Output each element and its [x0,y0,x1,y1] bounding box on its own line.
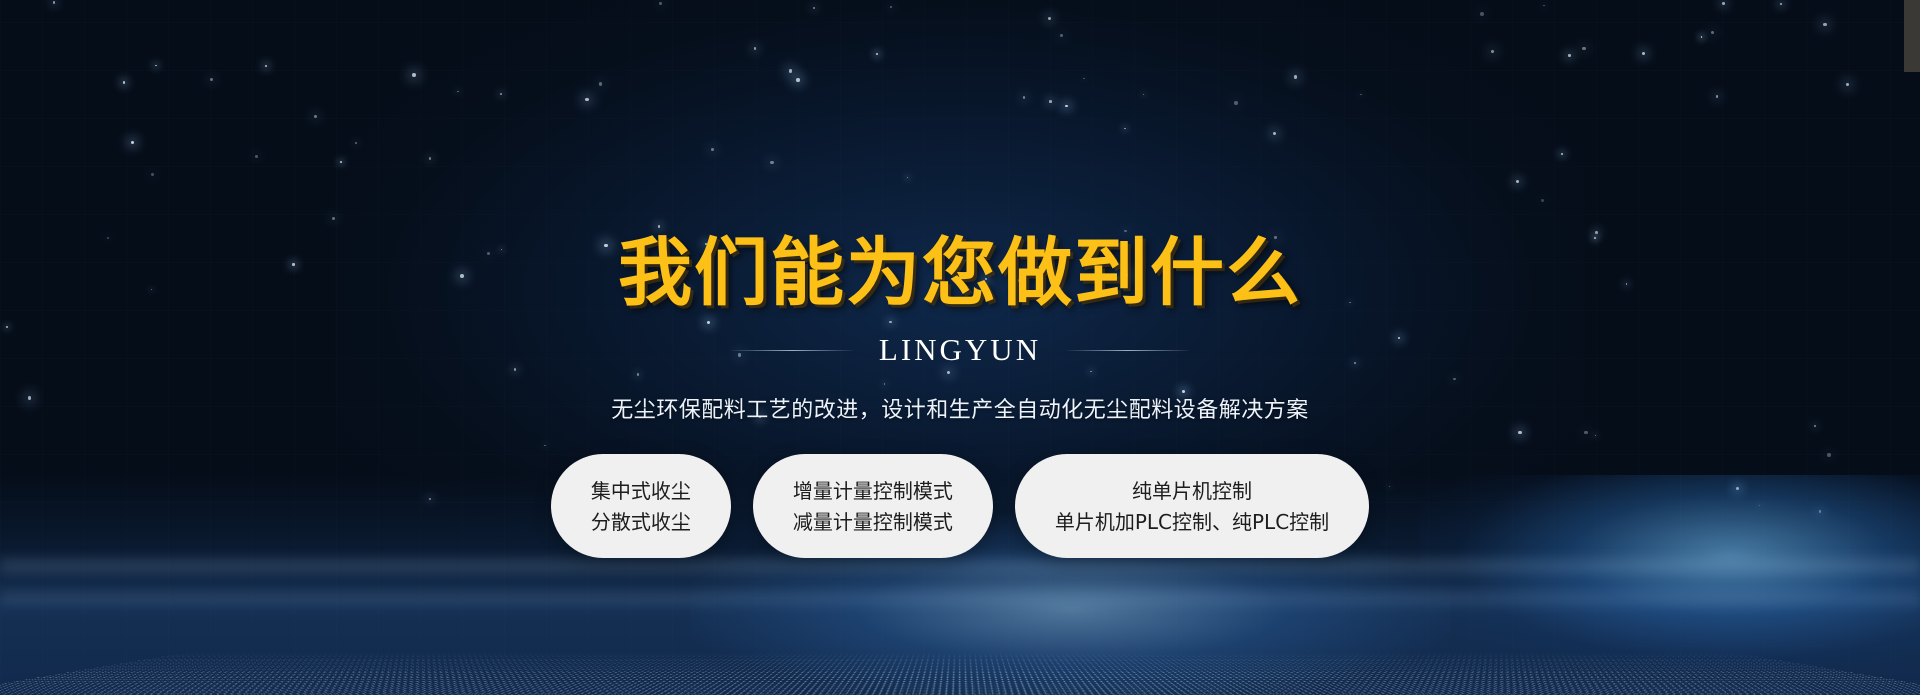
feature-pill-control-system[interactable]: 纯单片机控制 单片机加PLC控制、纯PLC控制 [1015,454,1369,558]
scrollbar-artifact[interactable] [1904,0,1920,72]
pill-line-primary: 增量计量控制模式 [793,481,953,501]
decorative-line-left [731,350,853,351]
tagline: 无尘环保配料工艺的改进，设计和生产全自动化无尘配料设备解决方案 [611,392,1309,424]
hero-banner: 我们能为您做到什么 LINGYUN 无尘环保配料工艺的改进，设计和生产全自动化无… [0,0,1920,695]
pill-line-primary: 集中式收尘 [591,481,691,501]
pill-line-secondary: 单片机加PLC控制、纯PLC控制 [1055,512,1329,532]
brand-row: LINGYUN [731,332,1189,368]
pill-line-secondary: 减量计量控制模式 [793,512,953,532]
decorative-line-right [1067,350,1189,351]
pill-line-secondary: 分散式收尘 [591,512,691,532]
brand-name: LINGYUN [879,332,1041,368]
page-title: 我们能为您做到什么 [618,236,1302,310]
feature-pill-dust-collection[interactable]: 集中式收尘 分散式收尘 [551,454,731,558]
feature-pill-group: 集中式收尘 分散式收尘 增量计量控制模式 减量计量控制模式 纯单片机控制 单片机… [551,454,1369,558]
feature-pill-metering-mode[interactable]: 增量计量控制模式 减量计量控制模式 [753,454,993,558]
pill-line-primary: 纯单片机控制 [1132,481,1252,501]
banner-content: 我们能为您做到什么 LINGYUN 无尘环保配料工艺的改进，设计和生产全自动化无… [0,0,1920,695]
